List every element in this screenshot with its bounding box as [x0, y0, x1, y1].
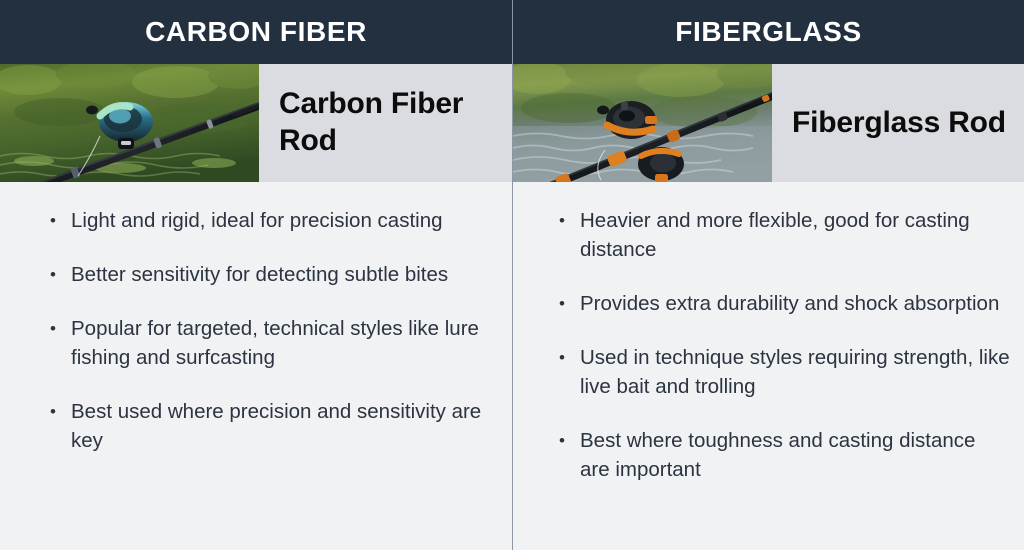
list-item-text: Popular for targeted, technical styles l… — [71, 314, 486, 372]
list-item-text: Provides extra durability and shock abso… — [580, 289, 999, 318]
list-item-text: Best used where precision and sensitivit… — [71, 397, 486, 455]
list-item: • Best where toughness and casting dista… — [559, 426, 1010, 484]
rod-title-label: Fiberglass Rod — [792, 105, 1006, 142]
fiberglass-rod-title-card: Fiberglass Rod — [772, 64, 1024, 182]
bullet-point-icon: • — [50, 397, 71, 426]
media-band-fiberglass: Fiberglass Rod — [513, 64, 1024, 182]
bullet-point-icon: • — [50, 260, 71, 289]
list-item: • Best used where precision and sensitiv… — [50, 397, 486, 455]
bullet-point-icon: • — [50, 206, 71, 235]
list-item: • Used in technique styles requiring str… — [559, 343, 1010, 401]
list-item: • Provides extra durability and shock ab… — [559, 289, 1010, 318]
column-header-carbon-fiber: CARBON FIBER — [0, 0, 512, 64]
carbon-fiber-rod-title-card: Carbon Fiber Rod — [259, 64, 512, 182]
bullet-point-icon: • — [559, 426, 580, 455]
list-item-text: Used in technique styles requiring stren… — [580, 343, 1010, 401]
bullet-point-icon: • — [50, 314, 71, 343]
bullet-point-icon: • — [559, 289, 580, 318]
carbon-fiber-feature-list: • Light and rigid, ideal for precision c… — [0, 182, 512, 550]
rod-comparison-infographic: CARBON FIBER — [0, 0, 1024, 550]
bullet-list: • Light and rigid, ideal for precision c… — [50, 206, 486, 455]
column-header-label: CARBON FIBER — [145, 18, 367, 46]
column-header-label: FIBERGLASS — [675, 18, 861, 46]
list-item: • Light and rigid, ideal for precision c… — [50, 206, 486, 235]
list-item-text: Best where toughness and casting distanc… — [580, 426, 1010, 484]
list-item-text: Better sensitivity for detecting subtle … — [71, 260, 448, 289]
bullet-list: • Heavier and more flexible, good for ca… — [559, 206, 1010, 484]
bullet-point-icon: • — [559, 206, 580, 235]
comparison-column-carbon-fiber: CARBON FIBER — [0, 0, 512, 550]
carbon-fiber-rod-photo — [0, 64, 259, 182]
list-item: • Heavier and more flexible, good for ca… — [559, 206, 1010, 264]
list-item: • Popular for targeted, technical styles… — [50, 314, 486, 372]
rod-title-label: Carbon Fiber Rod — [279, 86, 494, 159]
list-item: • Better sensitivity for detecting subtl… — [50, 260, 486, 289]
list-item-text: Light and rigid, ideal for precision cas… — [71, 206, 443, 235]
fiberglass-rod-photo — [513, 64, 772, 182]
list-item-text: Heavier and more flexible, good for cast… — [580, 206, 1010, 264]
media-band-carbon-fiber: Carbon Fiber Rod — [0, 64, 512, 182]
comparison-column-fiberglass: FIBERGLASS — [512, 0, 1024, 550]
bullet-point-icon: • — [559, 343, 580, 372]
column-header-fiberglass: FIBERGLASS — [513, 0, 1024, 64]
fiberglass-feature-list: • Heavier and more flexible, good for ca… — [513, 182, 1024, 550]
